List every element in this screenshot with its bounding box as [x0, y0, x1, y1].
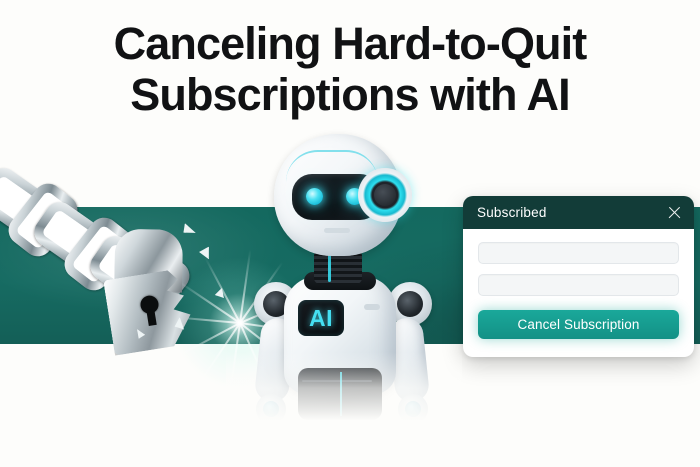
page-title-line-2: Subscriptions with AI: [0, 69, 700, 120]
page-title-line-1: Canceling Hard-to-Quit: [0, 18, 700, 69]
ai-robot-mascot: AI: [236, 132, 452, 432]
close-icon[interactable]: [667, 205, 682, 220]
padlock-icon: [92, 220, 224, 357]
cancel-subscription-button[interactable]: Cancel Subscription: [478, 310, 679, 339]
subscription-dialog: Subscribed Cancel Subscription: [463, 196, 694, 357]
dialog-title: Subscribed: [477, 205, 547, 220]
dialog-input-field-1[interactable]: [478, 242, 679, 264]
robot-mouth: [324, 228, 350, 233]
dialog-header: Subscribed: [463, 196, 694, 229]
robot-ear-icon: [358, 168, 412, 222]
page-title: Canceling Hard-to-Quit Subscriptions wit…: [0, 18, 700, 120]
dialog-input-field-2[interactable]: [478, 274, 679, 296]
robot-chest-ai-label: AI: [309, 305, 333, 332]
robot-chest-ai-badge: AI: [298, 300, 344, 336]
robot-chest-vent: [364, 304, 380, 310]
robot-head: [274, 134, 402, 256]
robot-bottom-fade: [226, 352, 462, 432]
robot-neck-glow: [328, 252, 331, 282]
poster-canvas: Canceling Hard-to-Quit Subscriptions wit…: [0, 0, 700, 467]
robot-eye-left-icon: [306, 188, 323, 205]
dialog-body: Cancel Subscription: [463, 229, 694, 353]
